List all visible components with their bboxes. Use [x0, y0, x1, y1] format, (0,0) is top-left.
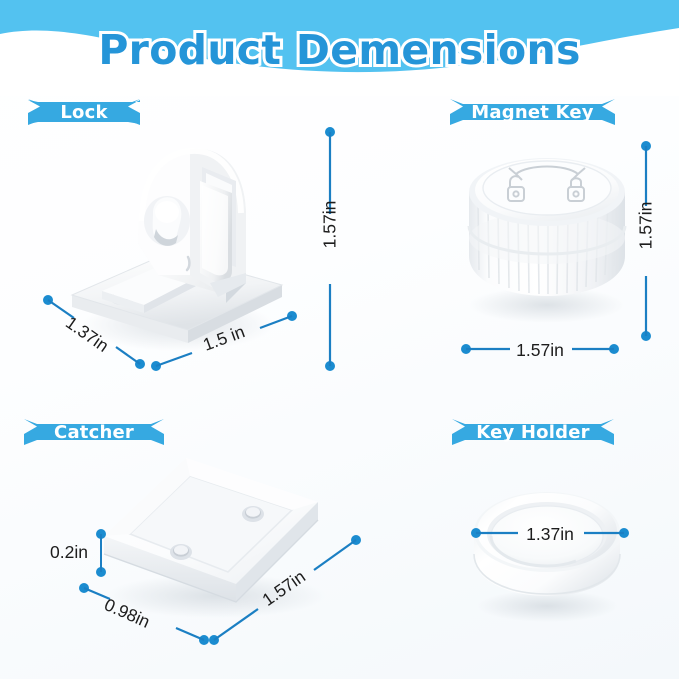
section-label-catcher: Catcher — [54, 422, 134, 443]
product-image-key-holder — [462, 478, 632, 628]
dimension-label-magnet-key-width: 1.57in — [508, 340, 572, 361]
section-label-key-holder: Key Holder — [476, 422, 589, 443]
dimension-label-key-holder-diameter: 1.37in — [516, 524, 584, 545]
page-title: Product Demensions — [0, 26, 679, 74]
section-banner-magnet-key: Magnet Key — [450, 98, 615, 126]
dimension-label-catcher-thickness: 0.2in — [26, 542, 88, 563]
product-image-magnet-key — [452, 130, 642, 330]
section-label-magnet-key: Magnet Key — [471, 102, 593, 123]
dimension-line-catcher-thickness — [92, 528, 110, 578]
product-dimensions-infographic: Product Demensions Lock — [0, 0, 679, 679]
dimension-label-lock-height: 1.57in — [320, 197, 341, 253]
section-banner-catcher: Catcher — [24, 418, 164, 446]
section-banner-lock: Lock — [28, 98, 140, 126]
section-banner-key-holder: Key Holder — [452, 418, 614, 446]
section-label-lock: Lock — [60, 102, 107, 123]
header-banner: Product Demensions — [0, 0, 679, 96]
dimension-label-magnet-key-height: 1.57in — [636, 198, 657, 254]
